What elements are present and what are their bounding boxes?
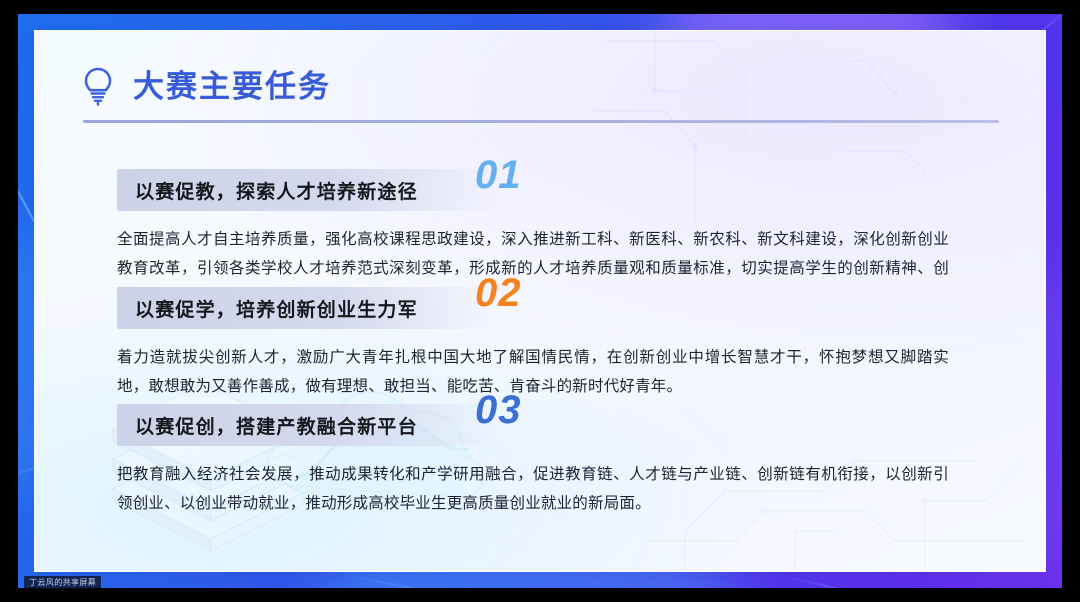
task-title: 以赛促创，搭建产教融合新平台 xyxy=(117,412,418,439)
task-header: 以赛促学，培养创新创业生力军 02 xyxy=(117,287,967,329)
task-body: 着力造就拔尖创新人才，激励广大青年扎根中国大地了解国情民情，在创新创业中增长智慧… xyxy=(117,343,949,401)
slide-content-card: 大赛主要任务 以赛促教，探索人才培养新途径 01 全面提高人才自主培养质量，强化… xyxy=(34,30,1046,572)
lightbulb-icon xyxy=(81,66,115,106)
task-title: 以赛促教，探索人才培养新途径 xyxy=(117,177,418,204)
task-header: 以赛促教，探索人才培养新途径 01 xyxy=(117,169,967,211)
background-streak xyxy=(778,574,1062,588)
task-number: 03 xyxy=(475,390,522,430)
page-title: 大赛主要任务 xyxy=(133,71,331,102)
task-block: 以赛促创，搭建产教融合新平台 03 把教育融入经济社会发展，推动成果转化和产学研… xyxy=(117,404,967,518)
header-divider xyxy=(83,120,999,123)
task-body: 把教育融入经济社会发展，推动成果转化和产学研用融合，促进教育链、人才链与产业链、… xyxy=(117,460,949,518)
task-header: 以赛促创，搭建产教融合新平台 03 xyxy=(117,404,967,446)
background-streak xyxy=(348,574,642,588)
task-number: 01 xyxy=(475,155,522,195)
task-number: 02 xyxy=(475,273,522,313)
task-title: 以赛促学，培养创新创业生力军 xyxy=(117,295,418,322)
task-block: 以赛促学，培养创新创业生力军 02 着力造就拔尖创新人才，激励广大青年扎根中国大… xyxy=(117,287,967,401)
screen-share-frame: 大赛主要任务 以赛促教，探索人才培养新途径 01 全面提高人才自主培养质量，强化… xyxy=(0,0,1080,602)
slide-header: 大赛主要任务 xyxy=(81,55,1001,117)
screen-share-watermark: 丁云风的共享屏幕 xyxy=(24,576,101,589)
presentation-slide: 大赛主要任务 以赛促教，探索人才培养新途径 01 全面提高人才自主培养质量，强化… xyxy=(18,14,1062,588)
